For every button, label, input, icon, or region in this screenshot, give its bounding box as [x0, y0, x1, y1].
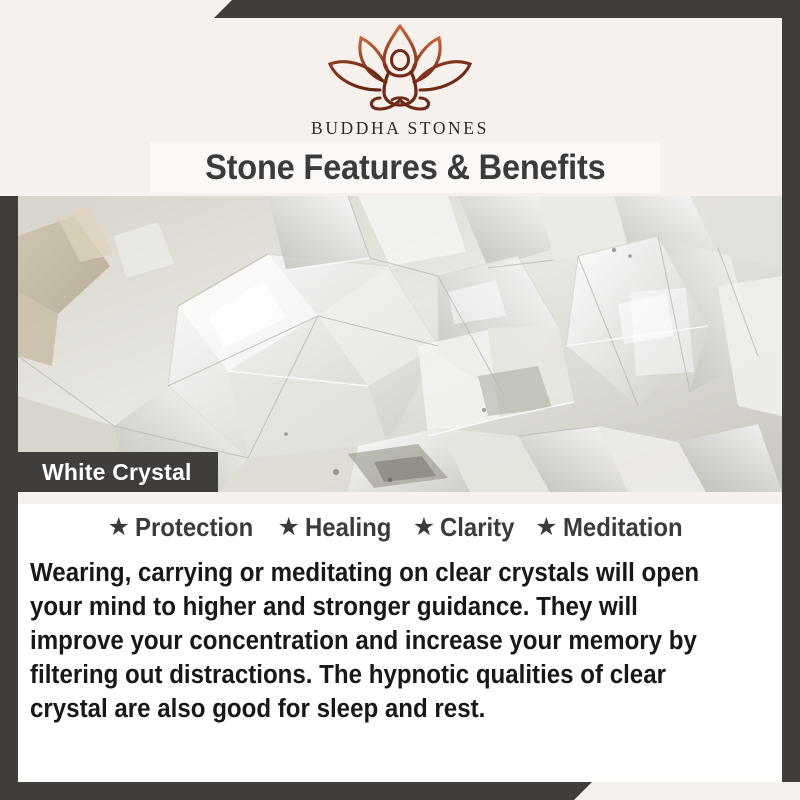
star-icon: ★	[277, 515, 299, 540]
page-title: Stone Features & Benefits	[205, 148, 606, 188]
star-icon: ★	[413, 515, 435, 540]
page-title-band: Stone Features & Benefits	[150, 142, 660, 193]
benefit-label: Protection	[135, 512, 253, 543]
frame-bottom-mask	[590, 782, 800, 800]
benefit-item-clarity: ★ Clarity	[413, 512, 521, 543]
benefit-label: Healing	[305, 512, 391, 543]
benefit-label: Meditation	[563, 512, 683, 543]
star-icon: ★	[535, 515, 557, 540]
content-top-strip	[18, 492, 782, 504]
content-section: ★ Protection ★ Healing ★ Clarity ★ Medit…	[18, 492, 782, 782]
benefit-item-healing: ★ Healing	[277, 512, 398, 543]
benefits-row: ★ Protection ★ Healing ★ Clarity ★ Medit…	[18, 512, 782, 543]
white-crystal-cluster-photo	[18, 196, 782, 492]
frame-right-edge	[782, 0, 800, 800]
benefit-item-meditation: ★ Meditation	[535, 512, 692, 543]
lotus-meditation-icon	[324, 20, 476, 112]
star-icon: ★	[107, 515, 129, 540]
header-section: BUDDHA STONES Stone Features & Benefits	[0, 0, 800, 196]
brand-name: BUDDHA STONES	[311, 118, 489, 139]
stone-name-text: White Crystal	[42, 459, 192, 486]
poster-root: BUDDHA STONES Stone Features & Benefits	[0, 0, 800, 800]
brand-logo: BUDDHA STONES	[0, 20, 800, 139]
stone-description: Wearing, carrying or meditating on clear…	[30, 556, 731, 726]
benefit-label: Clarity	[440, 512, 514, 543]
frame-left-mask	[0, 0, 18, 196]
benefit-item-protection: ★ Protection	[107, 512, 263, 543]
stone-name-badge: White Crystal	[18, 452, 218, 492]
